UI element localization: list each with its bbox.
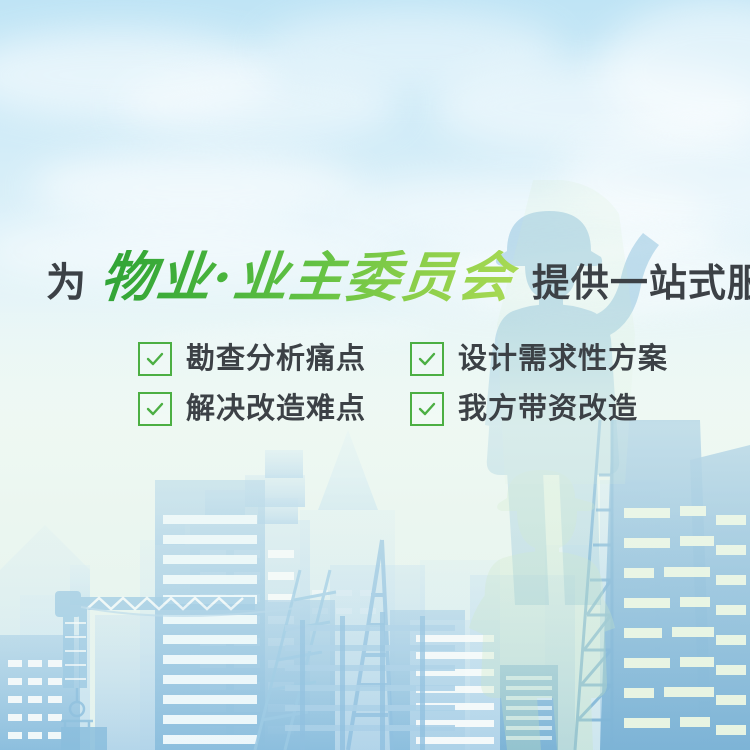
cloud-icon xyxy=(30,150,360,225)
checklist-item-label: 设计需求性方案 xyxy=(458,345,668,374)
headline-script-highlight: 物业·业主委员会 xyxy=(94,250,520,304)
checklist-item-2[interactable]: 解决改造难点 xyxy=(138,392,410,426)
page-title: 为 物业·业主委员会 提供一站式服务 xyxy=(46,250,750,304)
check-icon xyxy=(138,392,172,426)
checklist-item-label: 我方带资改造 xyxy=(458,395,638,424)
checklist-item-0[interactable]: 勘查分析痛点 xyxy=(138,342,410,376)
headline-prefix: 为 xyxy=(46,263,87,303)
feature-checklist: 勘查分析痛点 设计需求性方案 解决改造难点 我方带资改造 xyxy=(138,342,668,426)
check-icon xyxy=(410,392,444,426)
promo-banner: 为 物业·业主委员会 提供一站式服务 勘查分析痛点 设计需求性方案 解决改造难点 xyxy=(0,0,750,750)
checklist-item-3[interactable]: 我方带资改造 xyxy=(410,392,668,426)
checklist-item-label: 勘查分析痛点 xyxy=(186,345,366,374)
check-icon xyxy=(410,342,444,376)
checklist-item-label: 解决改造难点 xyxy=(186,395,366,424)
checklist-item-1[interactable]: 设计需求性方案 xyxy=(410,342,668,376)
check-icon xyxy=(138,342,172,376)
headline-suffix: 提供一站式服务 xyxy=(532,265,750,303)
